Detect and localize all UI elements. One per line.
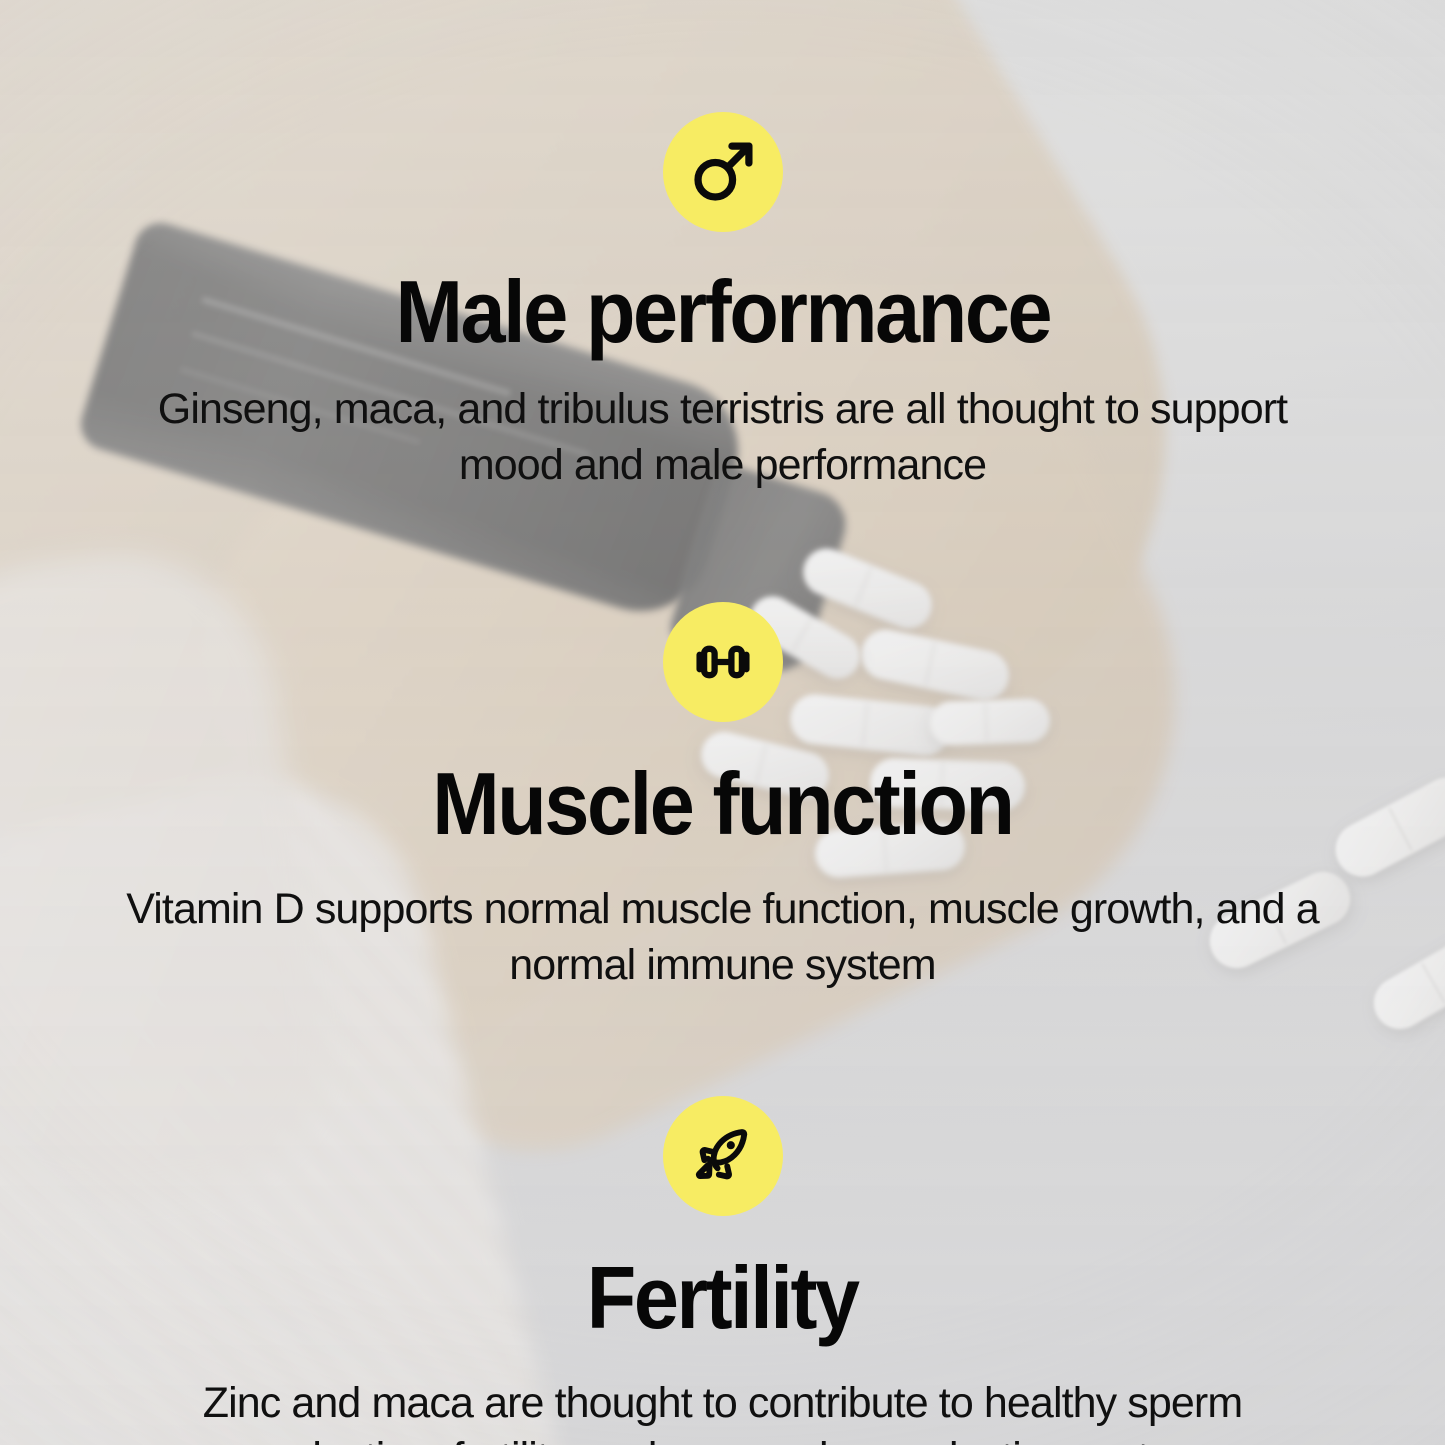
mars-male-symbol-icon: [663, 112, 783, 232]
benefit-title: Muscle function: [432, 760, 1012, 848]
benefits-list: Male performance Ginseng, maca, and trib…: [0, 0, 1445, 1445]
benefit-male-performance: Male performance Ginseng, maca, and trib…: [0, 112, 1445, 494]
benefit-title: Male performance: [395, 268, 1050, 356]
product-benefits-infographic: Male performance Ginseng, maca, and trib…: [0, 0, 1445, 1445]
benefit-title: Fertility: [587, 1254, 858, 1342]
benefit-muscle-function: Muscle function Vitamin D supports norma…: [0, 602, 1445, 994]
benefit-description: Vitamin D supports normal muscle functio…: [108, 882, 1338, 994]
rocket-icon: [663, 1096, 783, 1216]
benefit-description: Zinc and maca are thought to contribute …: [108, 1376, 1338, 1445]
benefit-fertility: Fertility Zinc and maca are thought to c…: [0, 1096, 1445, 1445]
benefit-description: Ginseng, maca, and tribulus terristris a…: [108, 382, 1338, 494]
dumbbell-icon: [663, 602, 783, 722]
